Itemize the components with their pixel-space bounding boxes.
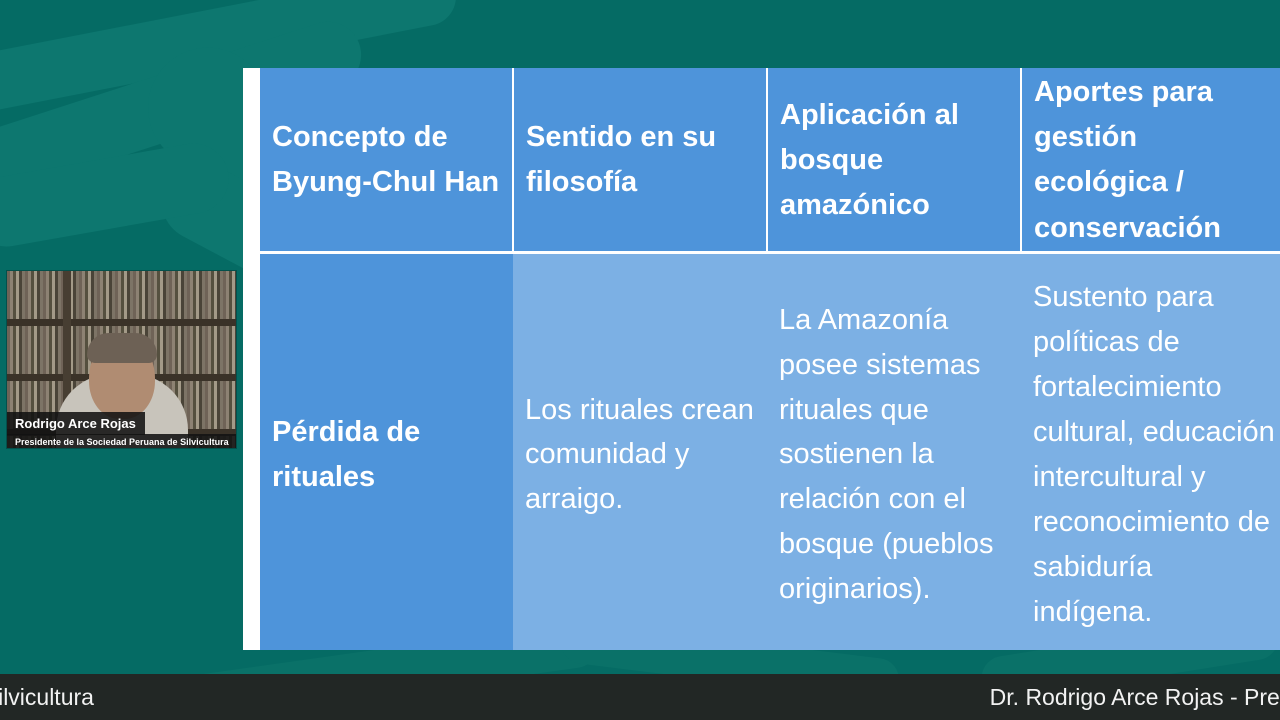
table-cell-aplicacion: La Amazonía posee sistemas rituales que … xyxy=(767,252,1021,650)
screen-root: Concepto de Byung-Chul Han Sentido en su… xyxy=(0,0,1280,720)
table-header-sentido: Sentido en su filosofía xyxy=(513,68,767,252)
background-watermark-stroke xyxy=(0,138,234,252)
table-header-concepto: Concepto de Byung-Chul Han xyxy=(260,68,513,252)
bookshelf-divider xyxy=(7,319,236,326)
speaker-name-label: Rodrigo Arce Rojas xyxy=(7,412,145,435)
bottom-bar-right-text: Dr. Rodrigo Arce Rojas - Presidente xyxy=(990,684,1280,711)
speaker-hair xyxy=(87,333,157,363)
table-cell-aportes: Sustento para políticas de fortalecimien… xyxy=(1021,252,1280,650)
shared-slide: Concepto de Byung-Chul Han Sentido en su… xyxy=(243,68,1280,650)
bottom-bar-left-text: ana de Silvicultura xyxy=(0,684,94,711)
bottom-status-bar: ana de Silvicultura Dr. Rodrigo Arce Roj… xyxy=(0,674,1280,720)
table-cell-concepto: Pérdida de rituales xyxy=(260,252,513,650)
table-cell-sentido: Los rituales crean comunidad y arraigo. xyxy=(513,252,767,650)
speaker-role-label: Presidente de la Sociedad Peruana de Sil… xyxy=(7,434,236,448)
speaker-video-tile[interactable]: Rodrigo Arce Rojas Presidente de la Soci… xyxy=(7,271,236,448)
table-row: Pérdida de rituales Los rituales crean c… xyxy=(260,252,1280,650)
concept-table: Concepto de Byung-Chul Han Sentido en su… xyxy=(260,68,1280,650)
table-header-row: Concepto de Byung-Chul Han Sentido en su… xyxy=(260,68,1280,252)
table-header-aportes: Aportes para gestión ecológica / conserv… xyxy=(1021,68,1280,252)
table-header-aplicacion: Aplicación al bosque amazónico xyxy=(767,68,1021,252)
